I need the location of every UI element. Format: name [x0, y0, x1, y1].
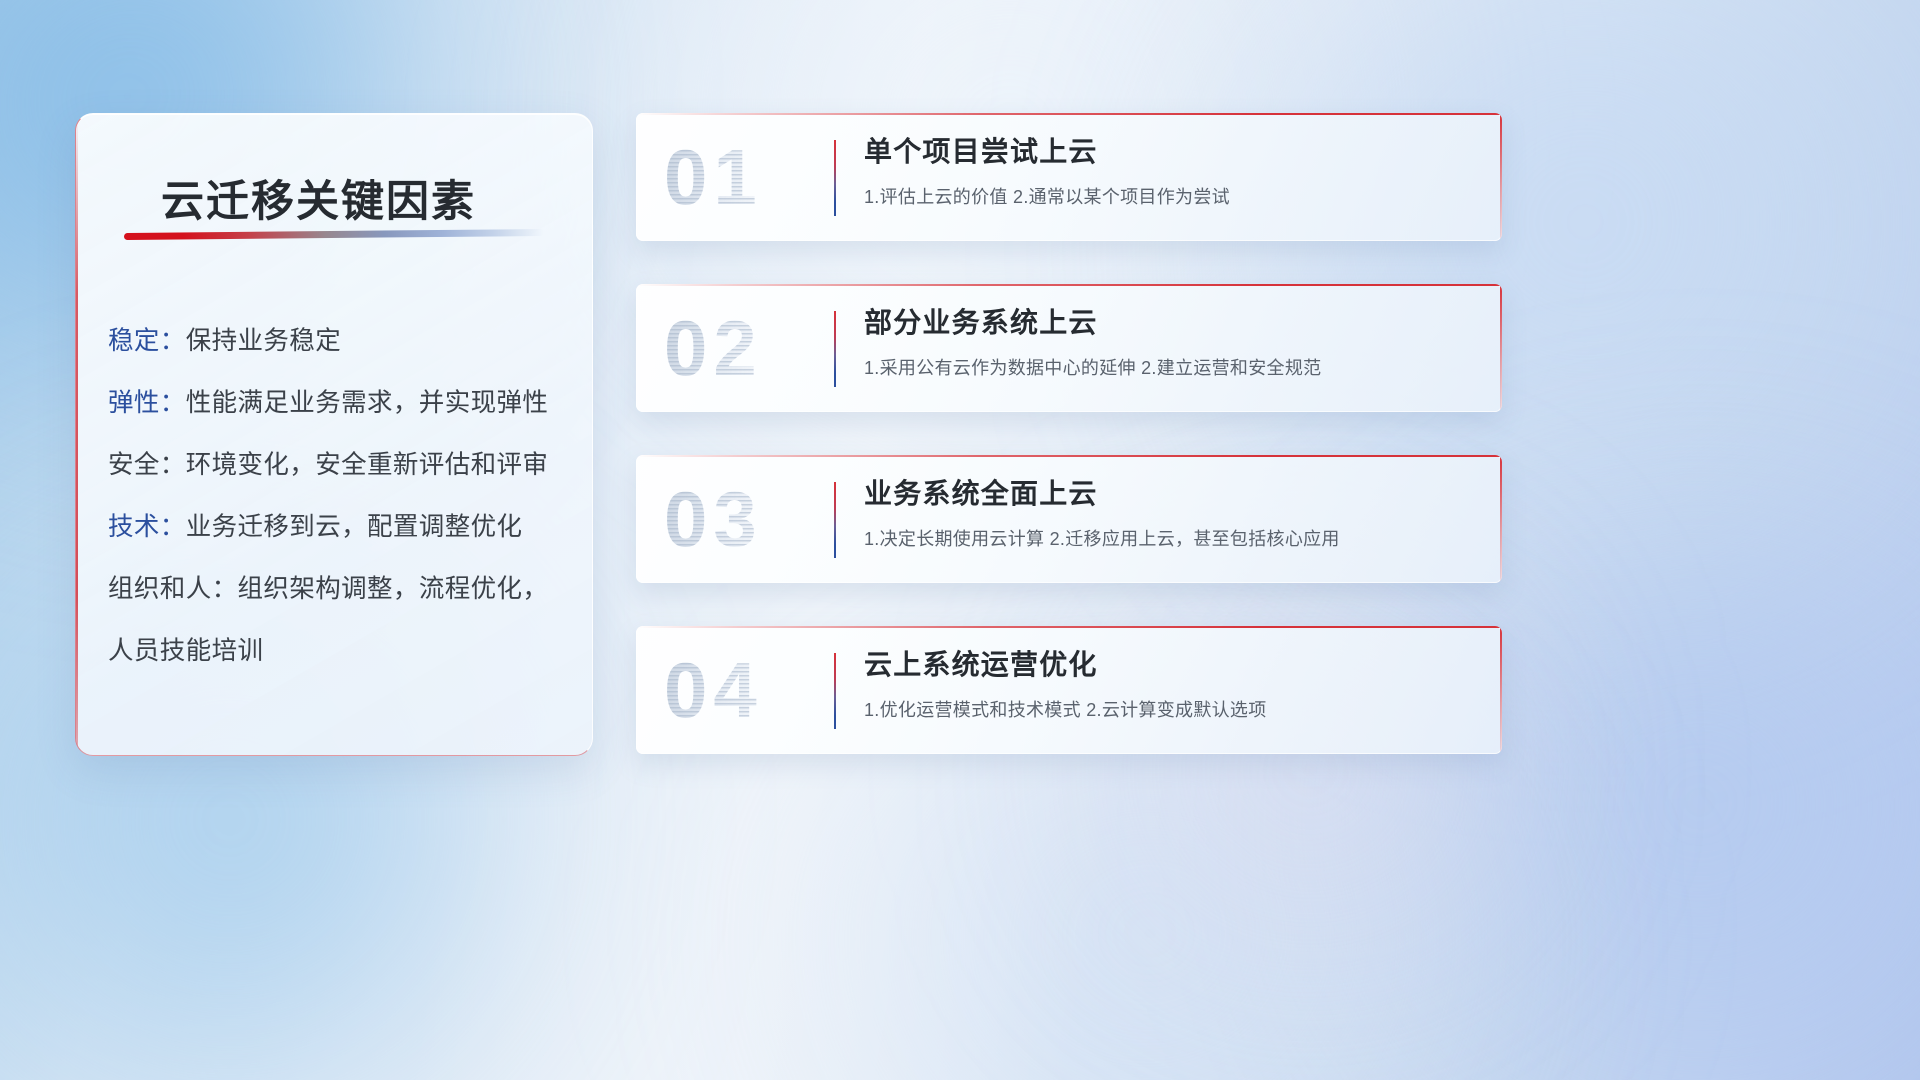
page-title: 云迁移关键因素: [161, 167, 476, 229]
card-title: 单个项目尝试上云: [864, 134, 1478, 169]
key-factor-text: 业务迁移到云，配置调整优化: [186, 513, 523, 541]
key-factor-text: 性能满足业务需求，并实现弹性: [186, 389, 549, 417]
card-body: 云上系统运营优化1.优化运营模式和技术模式 2.云计算变成默认选项: [864, 647, 1478, 722]
card-divider-line: [834, 140, 836, 216]
card-description: 1.评估上云的价值 2.通常以某个项目作为尝试: [864, 183, 1478, 209]
stage-card[interactable]: 03业务系统全面上云1.决定长期使用云计算 2.迁移应用上云，甚至包括核心应用: [636, 455, 1502, 583]
stage-card[interactable]: 04云上系统运营优化1.优化运营模式和技术模式 2.云计算变成默认选项: [636, 626, 1502, 754]
stage-number-watermark: 04: [664, 651, 763, 729]
key-factor-label: 技术：: [108, 513, 186, 541]
card-title: 云上系统运营优化: [864, 647, 1478, 682]
key-factor-item: 稳定：保持业务稳定: [108, 310, 578, 372]
key-factor-item: 安全：环境变化，安全重新评估和评审: [108, 434, 578, 496]
card-divider-line: [834, 311, 836, 387]
stage-card[interactable]: 01单个项目尝试上云1.评估上云的价值 2.通常以某个项目作为尝试: [636, 113, 1502, 241]
card-divider-line: [834, 482, 836, 558]
key-factor-text: 保持业务稳定: [186, 327, 341, 355]
key-factor-text: 组织架构调整，流程优化，: [238, 575, 549, 603]
migration-stage-cards: 01单个项目尝试上云1.评估上云的价值 2.通常以某个项目作为尝试02部分业务系…: [636, 113, 1502, 797]
key-factor-text: 人员技能培训: [108, 637, 263, 665]
key-factor-label: 组织和人：: [108, 575, 238, 603]
key-factors-panel: 云迁移关键因素 稳定：保持业务稳定弹性：性能满足业务需求，并实现弹性安全：环境变…: [75, 113, 593, 756]
card-title: 部分业务系统上云: [864, 305, 1478, 340]
card-divider-line: [834, 653, 836, 729]
card-description: 1.决定长期使用云计算 2.迁移应用上云，甚至包括核心应用: [864, 525, 1478, 551]
key-factor-label: 弹性：: [108, 389, 186, 417]
slide-stage: 云迁移关键因素 稳定：保持业务稳定弹性：性能满足业务需求，并实现弹性安全：环境变…: [0, 0, 1920, 1080]
stage-number-watermark: 01: [664, 138, 763, 216]
key-factor-item: 弹性：性能满足业务需求，并实现弹性: [108, 372, 578, 434]
card-body: 业务系统全面上云1.决定长期使用云计算 2.迁移应用上云，甚至包括核心应用: [864, 476, 1478, 551]
title-underline-rule: [124, 229, 544, 240]
key-factor-label: 安全：: [108, 451, 186, 479]
key-factor-item: 人员技能培训: [108, 620, 578, 682]
card-description: 1.采用公有云作为数据中心的延伸 2.建立运营和安全规范: [864, 354, 1478, 380]
key-factor-text: 环境变化，安全重新评估和评审: [186, 451, 549, 479]
key-factor-item: 组织和人：组织架构调整，流程优化，: [108, 558, 578, 620]
key-factors-list: 稳定：保持业务稳定弹性：性能满足业务需求，并实现弹性安全：环境变化，安全重新评估…: [108, 310, 578, 682]
card-title: 业务系统全面上云: [864, 476, 1478, 511]
stage-number-watermark: 02: [664, 309, 763, 387]
key-factor-item: 技术：业务迁移到云，配置调整优化: [108, 496, 578, 558]
card-body: 单个项目尝试上云1.评估上云的价值 2.通常以某个项目作为尝试: [864, 134, 1478, 209]
card-body: 部分业务系统上云1.采用公有云作为数据中心的延伸 2.建立运营和安全规范: [864, 305, 1478, 380]
stage-card[interactable]: 02部分业务系统上云1.采用公有云作为数据中心的延伸 2.建立运营和安全规范: [636, 284, 1502, 412]
card-description: 1.优化运营模式和技术模式 2.云计算变成默认选项: [864, 696, 1478, 722]
stage-number-watermark: 03: [664, 480, 763, 558]
key-factor-label: 稳定：: [108, 327, 186, 355]
